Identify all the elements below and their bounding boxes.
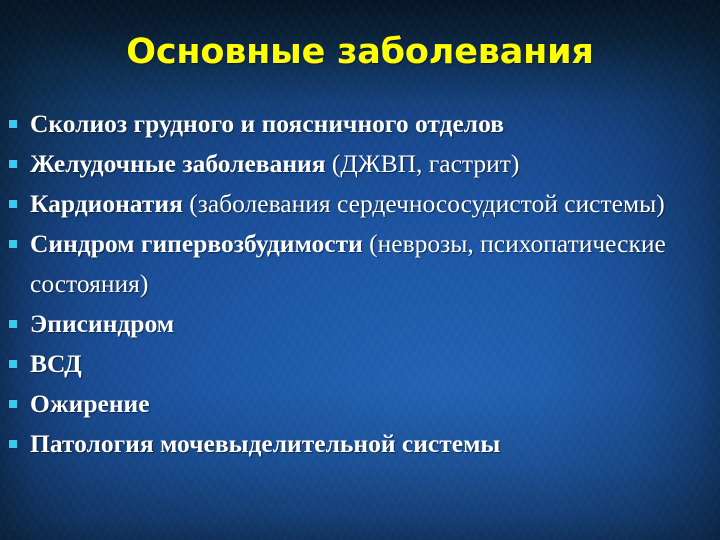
bullet-lead-text: Желудочные заболевания [30,149,332,178]
bullet-item: Ожирение [0,384,720,424]
bullet-lead-text: Патология мочевыделительной системы [30,429,500,458]
bullet-tail-text: (заболевания сердечнососудистой системы) [189,189,664,218]
bullet-lead-text: Сколиоз грудного и поясничного отделов [30,109,504,138]
bullet-square-icon [9,160,17,168]
bullet-list: Сколиоз грудного и поясничного отделовЖе… [0,104,720,464]
bullet-item: Синдром гипервозбудимости (неврозы, псих… [0,224,720,304]
slide-title: Основные заболевания [0,30,720,74]
bullet-square-icon [9,440,17,448]
bullet-item: Эписиндром [0,304,720,344]
bullet-item: Кардионатия (заболевания сердечнососудис… [0,184,720,224]
bullet-square-icon [9,240,17,248]
bullet-item: ВСД [0,344,720,384]
bullet-lead-text: Кардионатия [30,189,189,218]
bullet-lead-text: Ожирение [30,389,150,418]
bullet-lead-text: ВСД [30,349,82,378]
bullet-item: Сколиоз грудного и поясничного отделов [0,104,720,144]
bullet-square-icon [9,400,17,408]
slide-canvas: Основные заболевания Сколиоз грудного и … [0,0,720,540]
bullet-square-icon [9,360,17,368]
bullet-square-icon [9,320,17,328]
bullet-square-icon [9,200,17,208]
bullet-lead-text: Синдром гипервозбудимости [30,229,369,258]
bullet-square-icon [9,120,17,128]
bullet-item: Желудочные заболевания (ДЖВП, гастрит) [0,144,720,184]
bullet-item: Патология мочевыделительной системы [0,424,720,464]
bullet-tail-text: (ДЖВП, гастрит) [332,149,520,178]
bullet-lead-text: Эписиндром [30,309,174,338]
